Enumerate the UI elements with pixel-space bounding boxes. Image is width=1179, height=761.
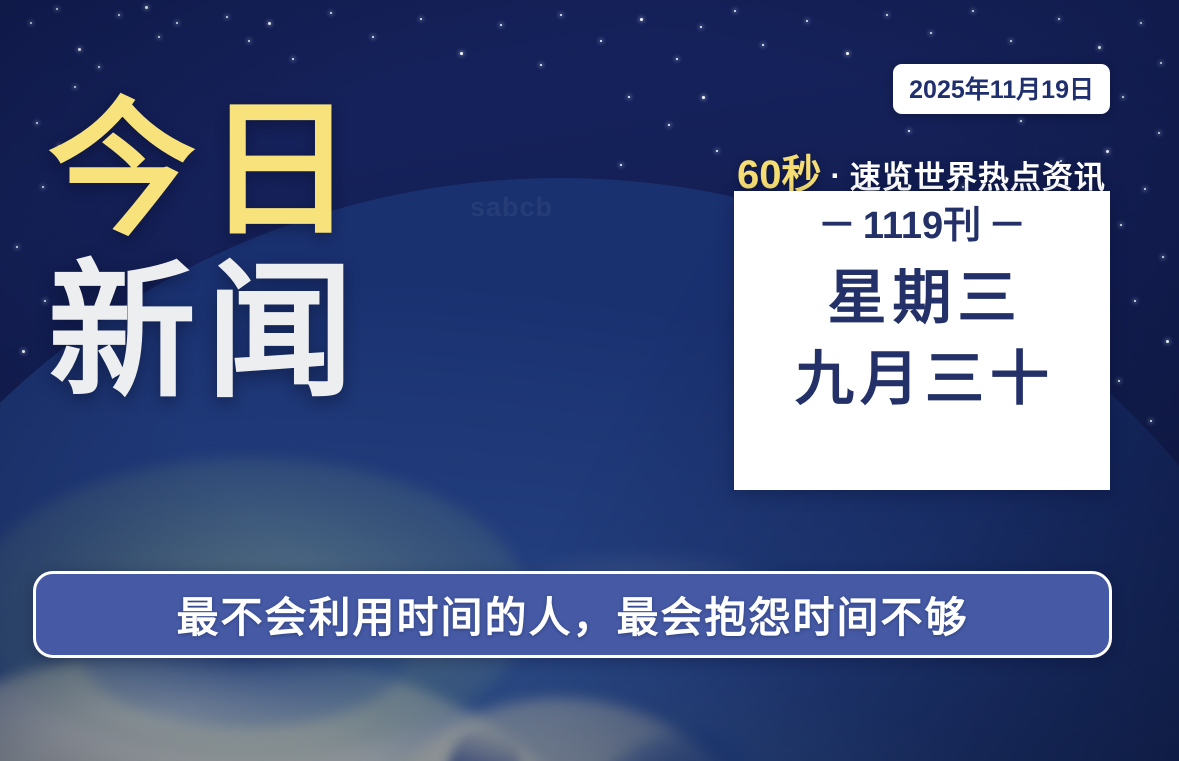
weekday-label: 星期三 [821, 266, 1022, 331]
tagline-separator-dot: · [831, 158, 841, 194]
quote-text: 最不会利用时间的人，最会抱怨时间不够 [176, 584, 968, 645]
date-badge: 2025年11月19日 [893, 64, 1110, 114]
page-title-line-1: 今日 [48, 96, 364, 244]
lunar-date-label: 九月三十 [789, 347, 1055, 412]
page-title-line-2: 新闻 [48, 258, 364, 406]
issue-dash-left: － [811, 205, 863, 247]
issue-number-row: －1119刊－ [811, 203, 1033, 251]
info-card: －1119刊－ 星期三 九月三十 [734, 191, 1110, 490]
issue-number: 1119刊 [863, 205, 981, 247]
quote-bar: 最不会利用时间的人，最会抱怨时间不够 [33, 571, 1112, 658]
news-poster: sabcb 2025年11月19日 今日 新闻 60秒 · 速览世界热点资讯 －… [0, 0, 1179, 761]
issue-dash-right: － [981, 205, 1033, 247]
page-title: 今日 新闻 [48, 96, 364, 406]
